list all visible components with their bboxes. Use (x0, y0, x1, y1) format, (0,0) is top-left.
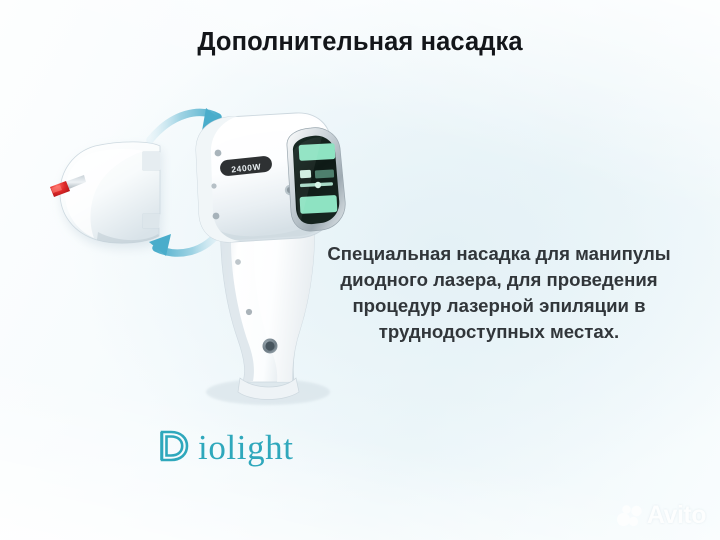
page-title: Дополнительная насадка (0, 28, 720, 57)
avito-watermark-text: Avito (647, 503, 706, 528)
detachable-nozzle (60, 142, 160, 243)
diolight-d-mark (158, 428, 192, 464)
nozzle-red-tip (50, 175, 86, 197)
handpiece-body: 2400W (196, 113, 345, 242)
vent-ribs (303, 150, 310, 206)
brand-logo-text: iolight (198, 430, 294, 465)
display-screen (293, 136, 339, 224)
svg-text:2400W: 2400W (231, 161, 262, 174)
brand-logo: iolight (158, 428, 294, 464)
arrow-detach-bottom (149, 228, 222, 256)
arrow-attach-top (150, 108, 224, 140)
promo-slide: 2400W (0, 0, 720, 540)
avito-watermark: Avito (617, 503, 706, 528)
product-description: Специальная насадка для манипулы диодног… (303, 241, 695, 345)
handpiece-grip (221, 208, 315, 400)
power-label-badge: 2400W (219, 155, 272, 176)
avito-dots-icon (617, 505, 643, 527)
